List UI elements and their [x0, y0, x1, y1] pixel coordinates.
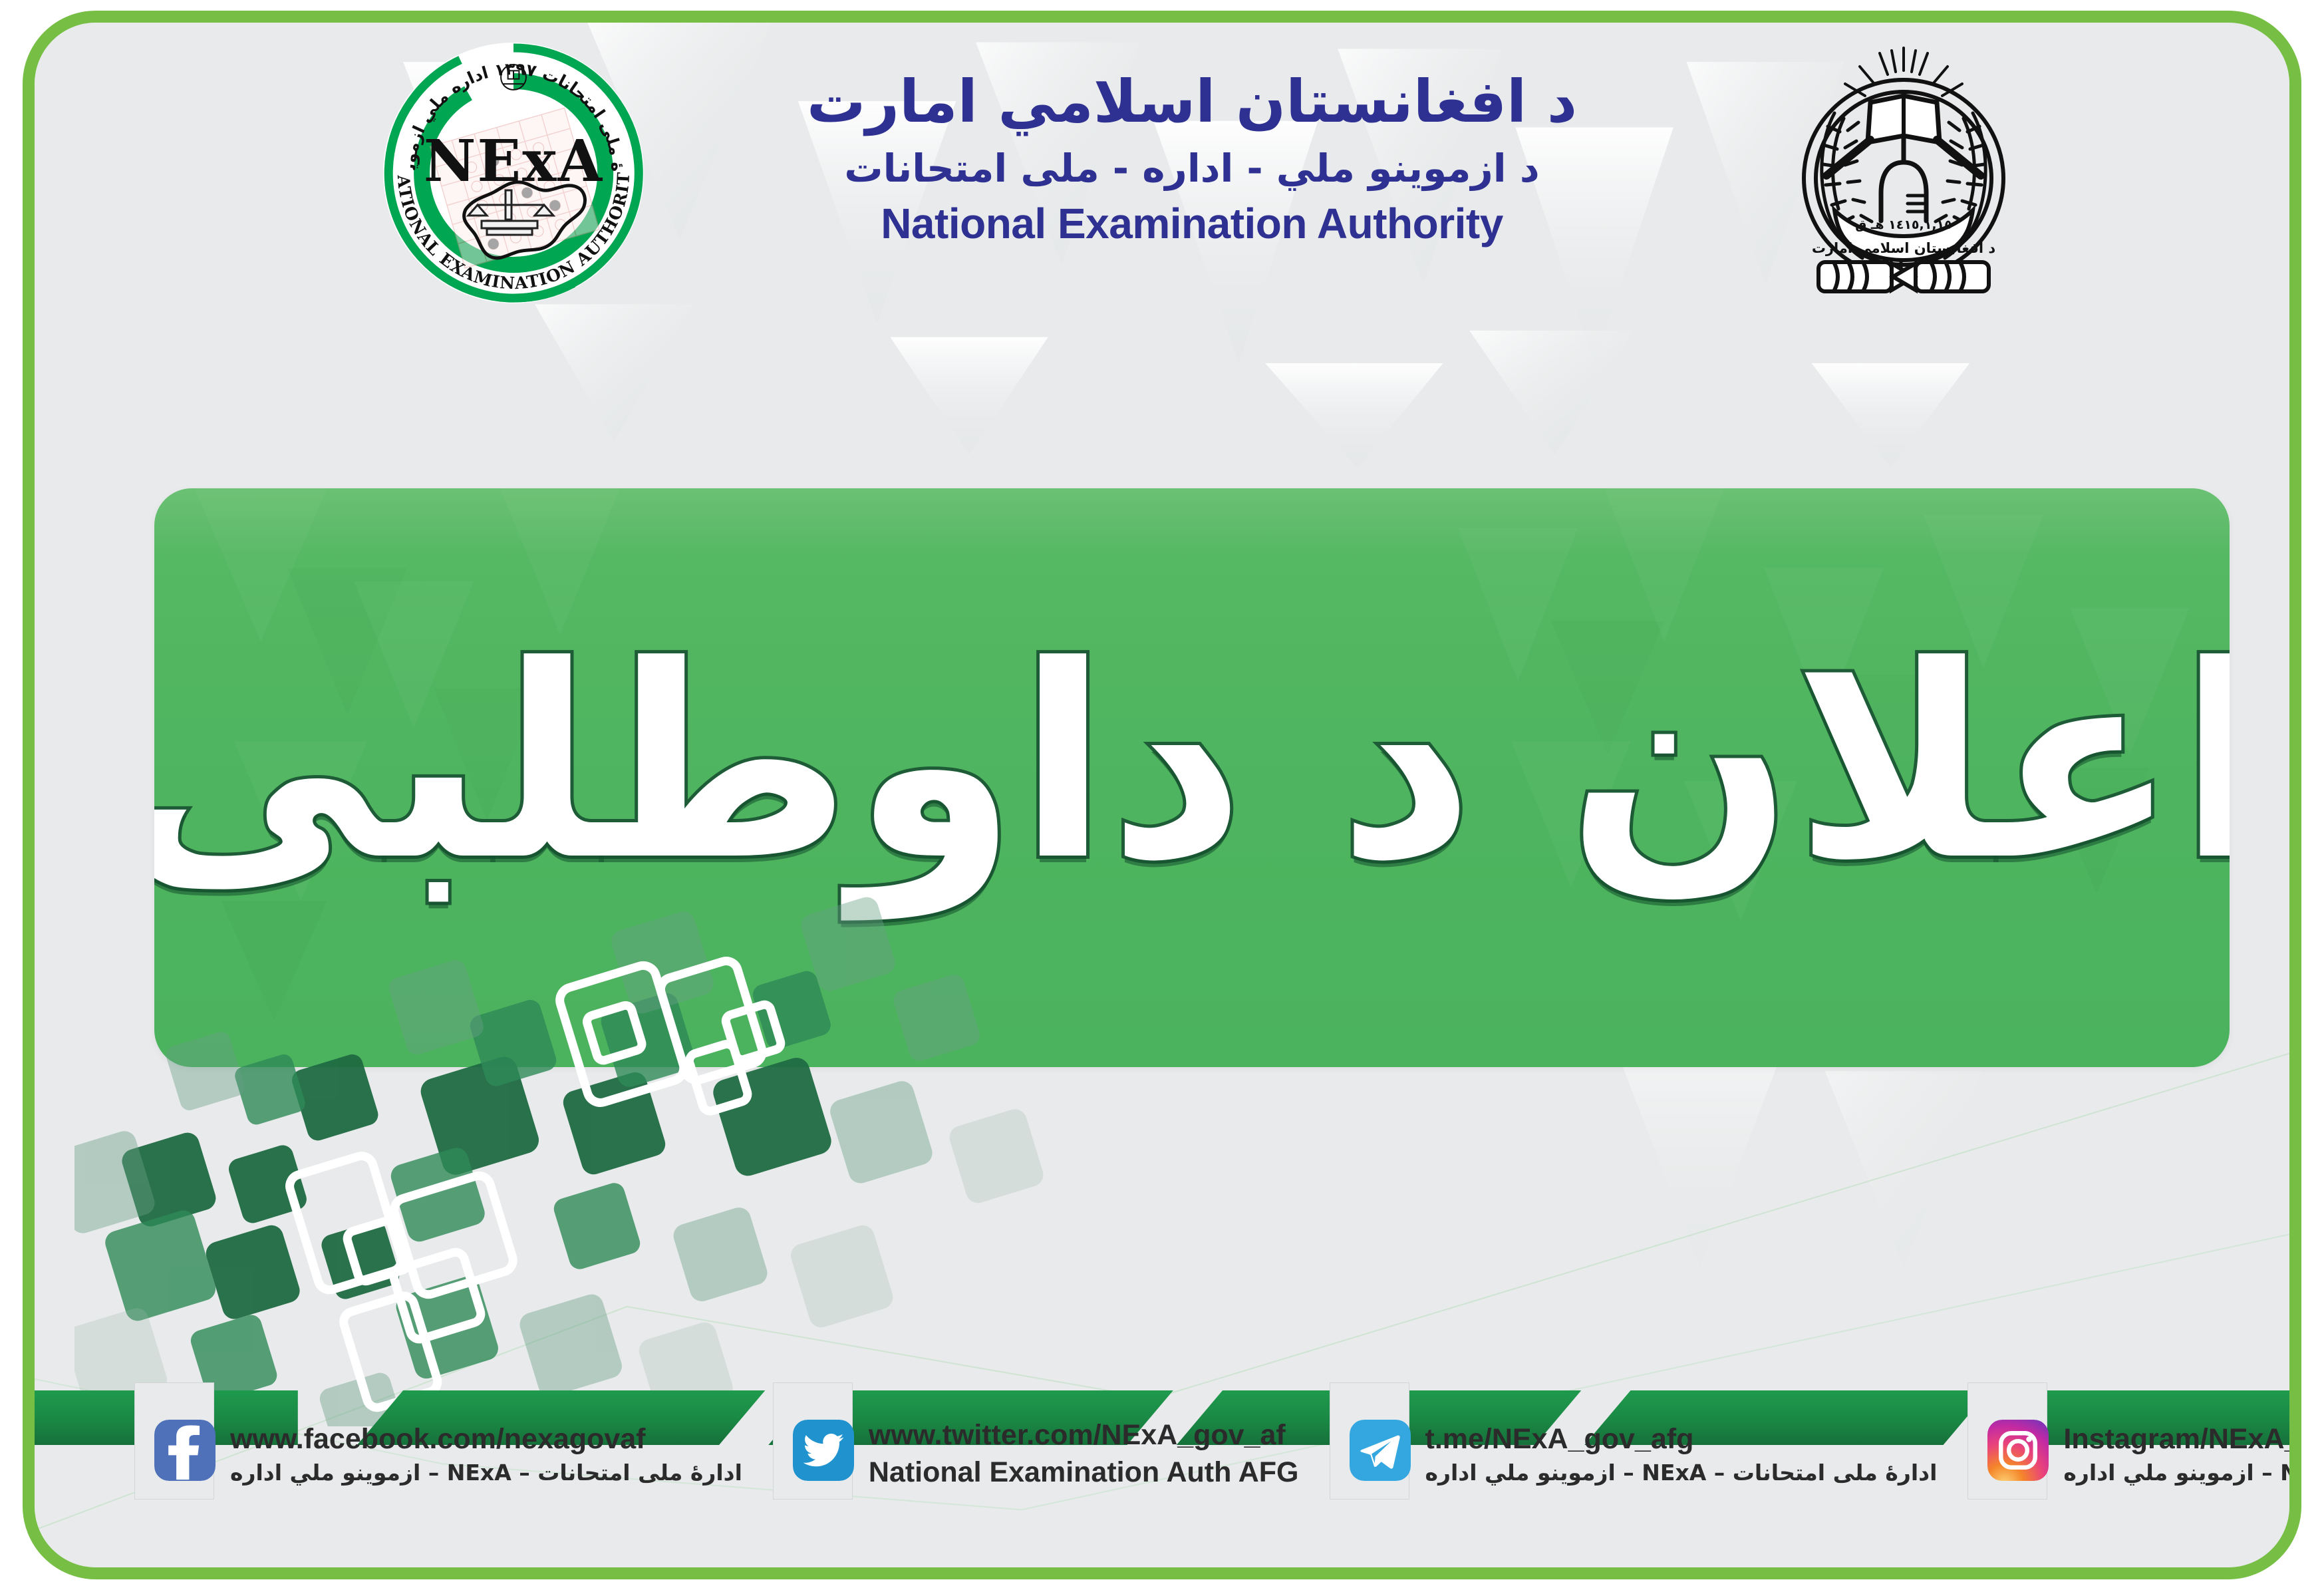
footer-item-facebook[interactable]: www.facebook.com/nexagovaf ادارهٔ ملی ام…: [134, 1373, 742, 1500]
footer: www.facebook.com/nexagovaf ادارهٔ ملی ام…: [35, 1373, 2289, 1526]
title-pashto-secondary: د ازموينو ملي - اداره - ملی امتحانات: [673, 146, 1711, 192]
footer-labels: t.me/NExA_gov_afg ادارهٔ ملی امتحانات – …: [1425, 1422, 1938, 1488]
header-titles: د افغانستان اسلامي امارت د ازموينو ملي -…: [673, 69, 1711, 249]
svg-text:NExA: NExA: [424, 128, 603, 195]
afghanistan-emblem: ١٤١٥,١,١٥ هـ ق د افغانستان اسلامي امارت: [1771, 39, 2037, 305]
footer-link-text: Instagram/NExA_gov_af: [2063, 1422, 2301, 1456]
footer-labels: Instagram/NExA_gov_af ادارهٔ ملی امتحانا…: [2063, 1422, 2301, 1488]
instagram-icon[interactable]: [1987, 1420, 2049, 1481]
footer-sub-text: ادارهٔ ملی امتحانات – NExA – ازموینو ملي…: [230, 1459, 742, 1488]
footer-labels: www.twitter.com/NExA_gov_af National Exa…: [869, 1418, 1299, 1492]
title-pashto-primary: د افغانستان اسلامي امارت: [673, 69, 1711, 135]
footer-link-text: t.me/NExA_gov_afg: [1425, 1422, 1938, 1456]
banner-headline: اعلان د داوطلبی: [154, 488, 2230, 1067]
footer-item-twitter[interactable]: www.twitter.com/NExA_gov_af National Exa…: [773, 1373, 1299, 1500]
twitter-icon[interactable]: [793, 1420, 854, 1481]
footer-sub-text: ادارهٔ ملی امتحانات – NExA – ازموینو ملي…: [2063, 1459, 2301, 1488]
footer-link-text: www.facebook.com/nexagovaf: [230, 1422, 742, 1456]
footer-social-list: www.facebook.com/nexagovaf ادارهٔ ملی ام…: [35, 1373, 2289, 1526]
announcement-banner: اعلان د داوطلبی: [154, 488, 2230, 1067]
footer-item-telegram[interactable]: t.me/NExA_gov_afg ادارهٔ ملی امتحانات – …: [1330, 1373, 1938, 1500]
header: NExA ادارۀ ملی امتحانات ۱۳۹۷ اداره ملي ا…: [35, 23, 2289, 335]
poster-canvas: NExA ادارۀ ملی امتحانات ۱۳۹۷ اداره ملي ا…: [0, 0, 2324, 1590]
footer-sub-text: National Examination Auth AFG: [869, 1454, 1299, 1492]
footer-sub-text: ادارهٔ ملی امتحانات – NExA – ازموینو ملي…: [1425, 1459, 1938, 1488]
footer-link-text: www.twitter.com/NExA_gov_af: [869, 1418, 1299, 1452]
telegram-icon[interactable]: [1350, 1420, 1411, 1481]
nea-logo: NExA ادارۀ ملی امتحانات ۱۳۹۷ اداره ملي ا…: [380, 40, 647, 306]
emblem-inscription-text: د افغانستان اسلامي امارت: [1812, 240, 1996, 256]
title-english: National Examination Authority: [673, 200, 1711, 249]
poster-frame: NExA ادارۀ ملی امتحانات ۱۳۹۷ اداره ملي ا…: [23, 11, 2301, 1579]
footer-labels: www.facebook.com/nexagovaf ادارهٔ ملی ام…: [230, 1422, 742, 1488]
emblem-date-text: ١٤١٥,١,١٥ هـ ق: [1855, 218, 1952, 232]
footer-item-instagram[interactable]: Instagram/NExA_gov_af ادارهٔ ملی امتحانا…: [1967, 1373, 2301, 1500]
facebook-icon[interactable]: [154, 1420, 216, 1481]
